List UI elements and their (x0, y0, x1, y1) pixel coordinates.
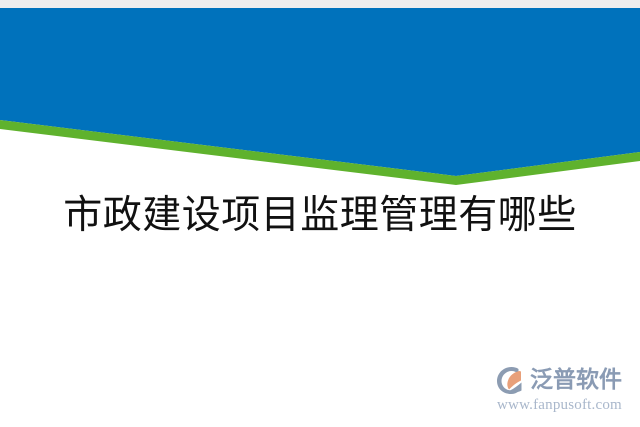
fanpu-logo-icon (496, 366, 527, 395)
banner-blue-shape (0, 8, 640, 176)
page-title: 市政建设项目监理管理有哪些 (0, 192, 640, 240)
slide-canvas: 市政建设项目监理管理有哪些 泛普软件 www.fanpusoft.com (0, 0, 640, 427)
brand-lockup[interactable]: 泛普软件 www.fanpusoft.com (496, 363, 632, 421)
brand-url[interactable]: www.fanpusoft.com (497, 396, 622, 414)
brand-row: 泛普软件 (496, 363, 622, 397)
chevron-banner (0, 0, 640, 190)
brand-name: 泛普软件 (530, 367, 622, 393)
